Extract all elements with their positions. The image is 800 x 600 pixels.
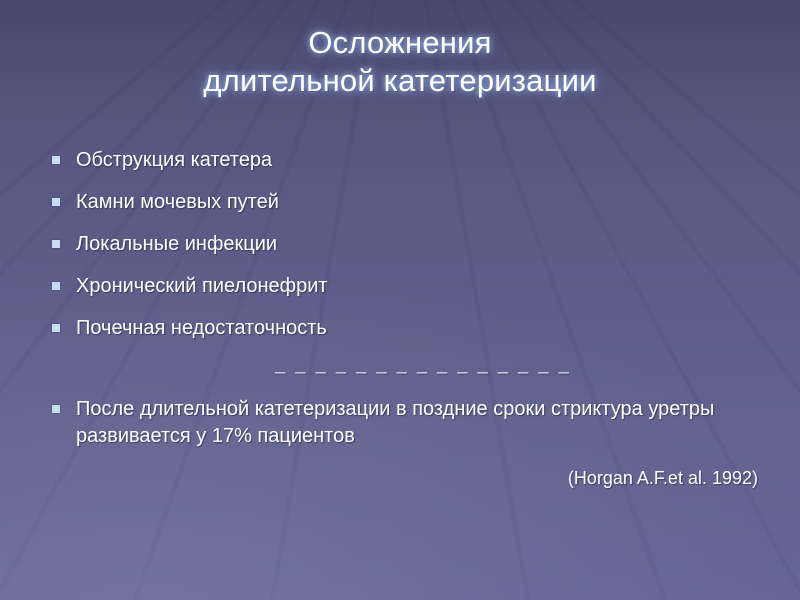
square-bullet-icon: [52, 240, 60, 248]
slide-title: Осложнения длительной катетеризации: [60, 24, 740, 100]
citation-reference: (Horgan A.F.et al. 1992): [52, 466, 758, 490]
list-item: Камни мочевых путей: [52, 189, 752, 231]
bullet-list: Обструкция катетера Камни мочевых путей …: [52, 147, 752, 357]
paragraph-text: После длительной катетеризации в поздние…: [76, 396, 758, 450]
list-item-label: Обструкция катетера: [76, 147, 752, 173]
square-bullet-icon: [52, 198, 60, 206]
list-item-label: Почечная недостаточность: [76, 315, 752, 341]
square-bullet-icon: [52, 156, 60, 164]
presentation-slide: Осложнения длительной катетеризации Обст…: [0, 0, 800, 600]
list-item: Почечная недостаточность: [52, 315, 752, 357]
slide-content: Осложнения длительной катетеризации Обст…: [0, 0, 800, 600]
square-bullet-icon: [52, 282, 60, 290]
list-item: Локальные инфекции: [52, 231, 752, 273]
dashed-divider: – – – – – – – – – – – – – – –: [52, 362, 752, 384]
list-item: Хронический пиелонефрит: [52, 273, 752, 315]
list-item-label: Камни мочевых путей: [76, 189, 752, 215]
square-bullet-icon: [52, 405, 60, 413]
list-item-label: Хронический пиелонефрит: [76, 273, 752, 299]
list-item-label: Локальные инфекции: [76, 231, 752, 257]
list-item: Обструкция катетера: [52, 147, 752, 189]
square-bullet-icon: [52, 324, 60, 332]
list-item-paragraph: После длительной катетеризации в поздние…: [52, 396, 758, 450]
